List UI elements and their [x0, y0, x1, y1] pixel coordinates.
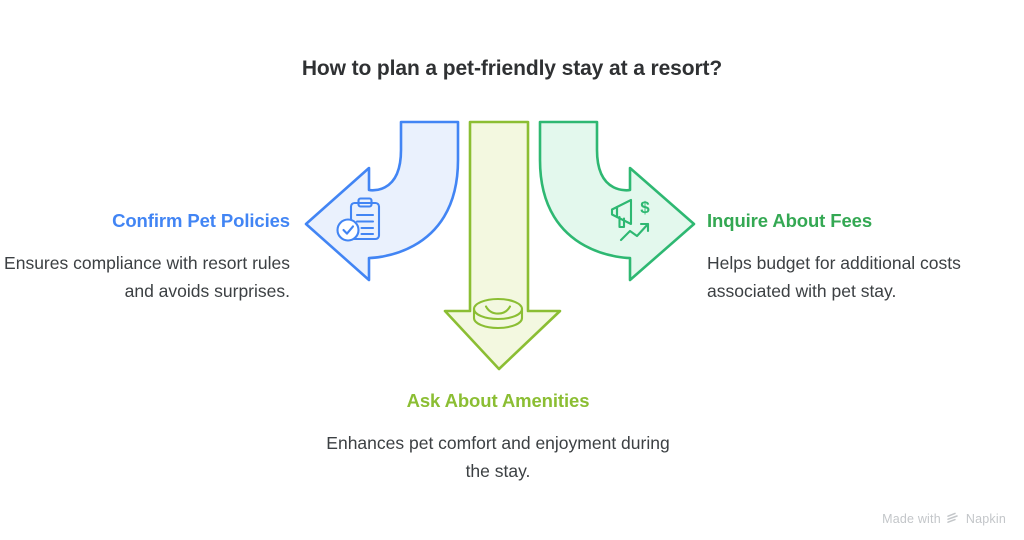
- page-title: How to plan a pet-friendly stay at a res…: [262, 54, 762, 84]
- branch-heading-right: Inquire About Fees: [707, 210, 1007, 232]
- branch-body-right: Helps budget for additional costs associ…: [707, 250, 999, 305]
- arrow-left: [306, 122, 458, 280]
- watermark-prefix: Made with: [882, 512, 941, 526]
- watermark-brand: Napkin: [966, 512, 1006, 526]
- watermark: Made with Napkin: [882, 511, 1006, 526]
- branch-heading-bottom: Ask About Amenities: [312, 390, 684, 412]
- branch-body-left: Ensures compliance with resort rules and…: [0, 250, 290, 305]
- napkin-logo-icon: [946, 511, 961, 526]
- svg-text:$: $: [640, 198, 650, 217]
- arrow-right: $: [540, 122, 694, 280]
- branch-heading-left: Confirm Pet Policies: [0, 210, 290, 232]
- branch-body-bottom: Enhances pet comfort and enjoyment durin…: [322, 430, 674, 485]
